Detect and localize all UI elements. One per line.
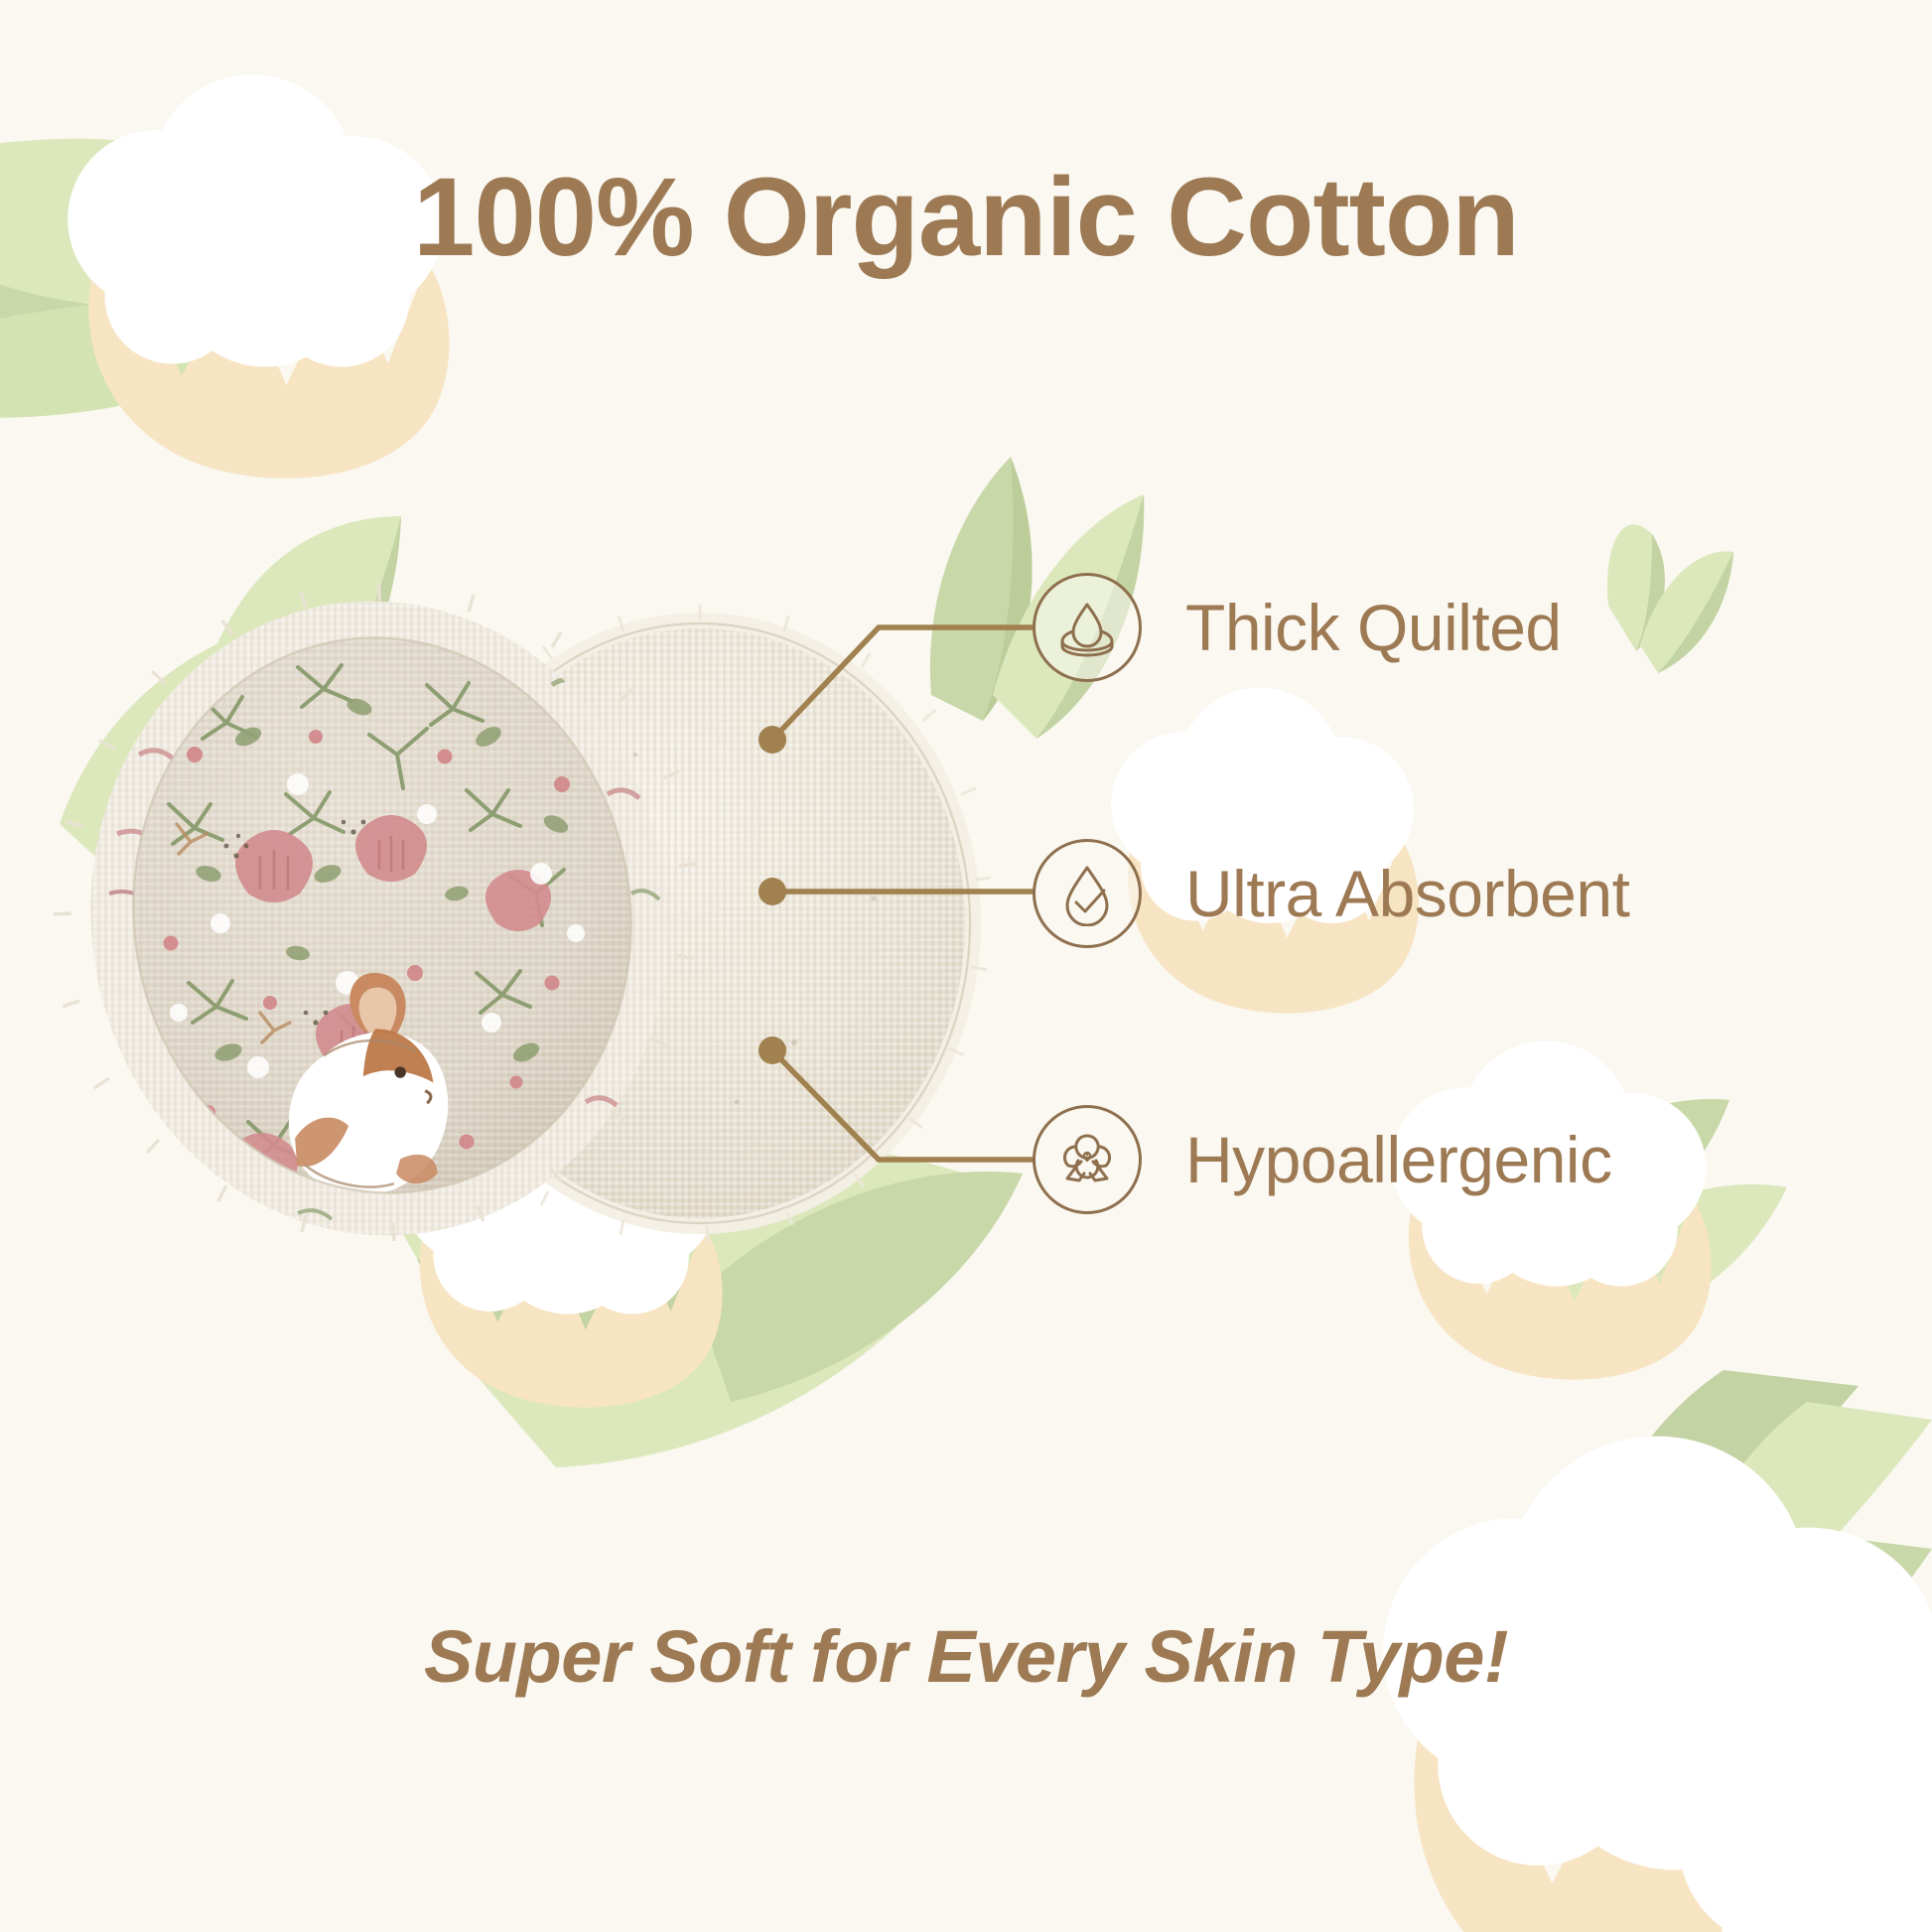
- cotton-boll-icon: [1054, 1127, 1120, 1192]
- feature-label: Ultra Absorbent: [1185, 856, 1629, 931]
- droplet-check-icon: [1054, 861, 1120, 926]
- quilted-layers-droplet-icon: [1054, 595, 1120, 660]
- page-title: 100% Organic Cotton: [0, 159, 1932, 276]
- feature-label: Hypoallergenic: [1185, 1122, 1612, 1197]
- feature-icon-badge: [1033, 839, 1142, 948]
- feature-ultra-absorbent: Ultra Absorbent: [1033, 839, 1629, 948]
- connector-dot-thick-quilted: [759, 726, 786, 754]
- connector-dots: [759, 726, 786, 1064]
- feature-thick-quilted: Thick Quilted: [1033, 573, 1562, 682]
- connector-dot-ultra-absorbent: [759, 878, 786, 905]
- feature-icon-badge: [1033, 573, 1142, 682]
- connector-line-thick-quilted: [772, 627, 1033, 740]
- feature-hypoallergenic: Hypoallergenic: [1033, 1105, 1612, 1214]
- connector-line-hypoallergenic: [772, 1050, 1033, 1160]
- infographic-canvas: 100% Organic Cotton Thick Quilted Ul: [0, 0, 1932, 1932]
- feature-icon-badge: [1033, 1105, 1142, 1214]
- feature-label: Thick Quilted: [1185, 590, 1562, 665]
- page-tagline: Super Soft for Every Skin Type!: [0, 1614, 1932, 1699]
- connector-dot-hypoallergenic: [759, 1036, 786, 1064]
